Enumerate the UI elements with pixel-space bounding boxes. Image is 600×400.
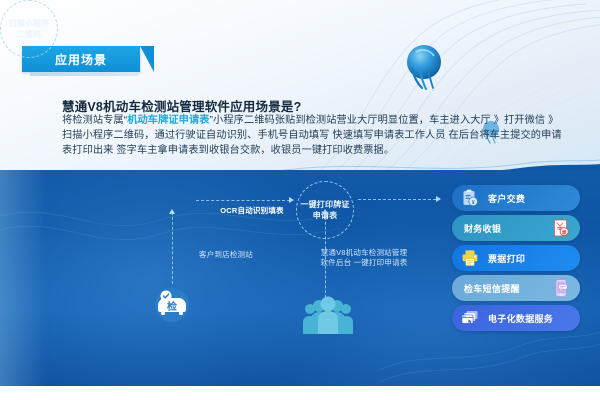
slide-canvas: 应用场景 慧通V8机动车检测站管理软件应用场景是? 将检测站专属“机动车牌证申请…: [0, 0, 600, 400]
caption-backend: 慧通V8机动车检测站管理 软件后台 一键打印申请表: [300, 248, 428, 268]
flow-arrow-1-2: [289, 197, 294, 203]
body-pre: 将检测站专属: [62, 115, 124, 126]
windows-data-icon: [460, 308, 480, 328]
svg-text:¥: ¥: [472, 200, 475, 206]
feature-card-list: ¥ 客户交费 财务收银 章 票据打印 检车短信提醒: [452, 185, 580, 335]
flow-step-1-line2: 二维码: [17, 30, 42, 39]
card-customer-payment[interactable]: ¥ 客户交费: [452, 185, 580, 211]
body-highlight: 机动车牌证申请表: [127, 115, 209, 126]
card-label: 财务收银: [464, 222, 501, 235]
flow-step-1-label: 扫描小程序 二维码: [9, 18, 50, 40]
card-label: 客户交费: [488, 192, 525, 205]
caption-customer: 客户到店检测站: [178, 250, 274, 260]
card-label: 检车短信提醒: [464, 282, 520, 295]
card-receipt-print[interactable]: 票据打印: [452, 245, 580, 271]
caption-backend-line1: 慧通V8机动车检测站管理: [321, 248, 408, 257]
caption-backend-line2: 软件后台 一键打印申请表: [321, 258, 408, 267]
flow-arrow-car-up: [169, 209, 175, 214]
flow-connector-2-cards: [358, 199, 436, 200]
flow-connector-1-2: [196, 200, 290, 201]
bottom-white-strip: [0, 386, 600, 400]
card-label: 电子化数据服务: [488, 312, 553, 325]
flow-step-2-line1: 一键打印牌证: [300, 200, 349, 209]
top-section: 应用场景 慧通V8机动车检测站管理软件应用场景是? 将检测站专属“机动车牌证申请…: [0, 0, 600, 180]
flow-arrow-2-cards: [436, 196, 441, 202]
flow-connector-car-up: [172, 212, 173, 284]
section-tag-underline: [30, 72, 138, 76]
ocr-label: OCR自动识别填表: [206, 206, 298, 216]
car-icon-character: 检: [167, 300, 177, 313]
card-inspection-sms[interactable]: 检车短信提醒: [452, 275, 580, 301]
clipboard-payment-icon: ¥: [460, 188, 480, 208]
card-label: 票据打印: [488, 252, 525, 265]
printer-icon: [460, 248, 480, 268]
card-finance-cashier[interactable]: 财务收银 章: [452, 215, 580, 241]
sms-phone-icon: [551, 278, 571, 298]
flow-step-1-line1: 扫描小程序: [9, 19, 50, 28]
svg-text:章: 章: [562, 229, 567, 236]
invoice-receipt-icon: 章: [551, 218, 571, 238]
staff-group-icon: [300, 296, 356, 336]
body-paragraph: 将检测站专属“机动车牌证申请表”小程序二维码张贴到检测站营业大厅明显位置，车主进…: [62, 113, 562, 158]
flow-step-1: 扫描小程序 二维码: [0, 0, 58, 58]
car-inspection-icon: 检: [150, 283, 194, 327]
card-digital-data-service[interactable]: 电子化数据服务: [452, 305, 580, 331]
jellyfish-icon: [398, 38, 450, 90]
flow-arrow-people-up: [322, 209, 328, 214]
